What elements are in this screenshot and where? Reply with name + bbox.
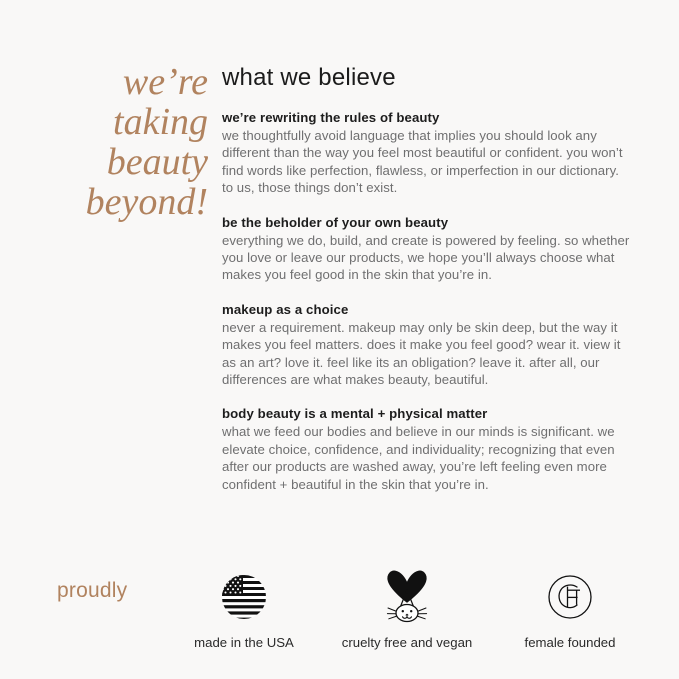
value-block-heading: body beauty is a mental + physical matte… [222, 405, 632, 422]
usa-flag-circle-icon [164, 568, 324, 626]
badge-cruelty-free-and-vegan: cruelty free and vegan [322, 568, 492, 651]
cruelty-free-bunny-heart-icon [322, 568, 492, 626]
badge-caption: cruelty free and vegan [322, 635, 492, 651]
value-block-body-beauty: body beauty is a mental + physical matte… [222, 405, 632, 493]
brand-headline: we’re taking beauty beyond! [8, 62, 208, 222]
brand-values-page: we’re taking beauty beyond! what we beli… [0, 0, 679, 679]
value-block-makeup-choice: makeup as a choice never a requirement. … [222, 301, 632, 389]
proudly-badges-row: proudly [0, 560, 679, 670]
value-block-heading: we’re rewriting the rules of beauty [222, 109, 632, 126]
value-block-body: never a requirement. makeup may only be … [222, 319, 632, 389]
female-founded-monogram-icon [492, 568, 648, 626]
value-block-body: we thoughtfully avoid language that impl… [222, 127, 632, 197]
headline-line-4: beyond! [8, 182, 208, 222]
value-block-beholder: be the beholder of your own beauty every… [222, 214, 632, 284]
value-block-rewriting-rules: we’re rewriting the rules of beauty we t… [222, 109, 632, 197]
believe-section: what we believe we’re rewriting the rule… [222, 63, 632, 493]
badge-made-in-usa: made in the USA [164, 568, 324, 651]
value-block-heading: be the beholder of your own beauty [222, 214, 632, 231]
headline-line-2: taking [8, 102, 208, 142]
proudly-label: proudly [57, 578, 127, 604]
value-block-body: everything we do, build, and create is p… [222, 232, 632, 284]
value-block-heading: makeup as a choice [222, 301, 632, 318]
badge-caption: made in the USA [164, 635, 324, 651]
badge-female-founded: female founded [492, 568, 648, 651]
badge-caption: female founded [492, 635, 648, 651]
headline-line-3: beauty [8, 142, 208, 182]
page-title: what we believe [222, 63, 632, 93]
headline-line-1: we’re [8, 62, 208, 102]
value-block-body: what we feed our bodies and believe in o… [222, 423, 632, 493]
